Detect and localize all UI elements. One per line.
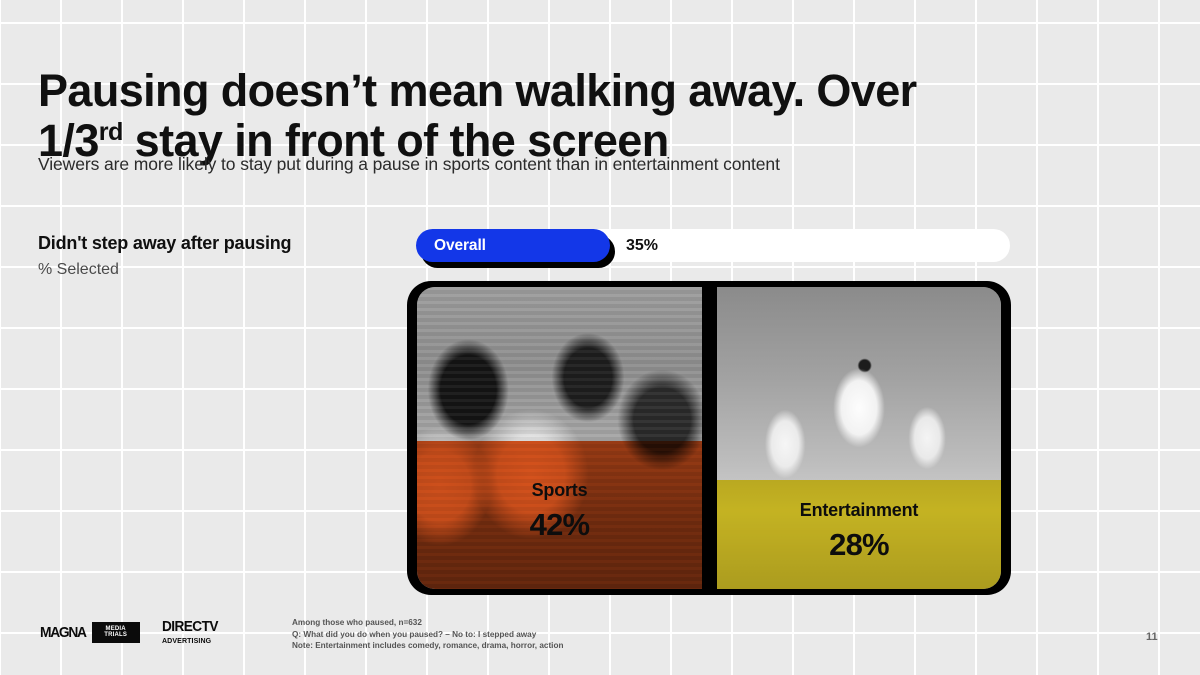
magna-wordmark: MAGNA (40, 624, 86, 641)
footnote-sample-size: Among those who paused, n=632 (292, 617, 563, 629)
metric-label: Didn't step away after pausing (38, 233, 291, 254)
footnote-note: Note: Entertainment includes comedy, rom… (292, 640, 563, 652)
entertainment-card-text: Entertainment 28% (717, 500, 1001, 563)
page-title-ordinal-suffix: rd (99, 118, 123, 146)
page-title: Pausing doesn’t mean walking away. Over … (38, 66, 988, 166)
directv-logo: DIRECTV ADVERTISING (162, 620, 221, 644)
sports-card-value: 42% (417, 507, 702, 543)
overall-bar: Overall 35% (416, 229, 1010, 262)
card-sports: Sports 42% (417, 287, 702, 589)
page-subtitle: Viewers are more likely to stay put duri… (38, 154, 780, 175)
directv-advertising-subtitle: ADVERTISING (162, 637, 218, 645)
logo-group: MAGNA MEDIA TRIALS DIRECTV ADVERTISING (38, 620, 221, 644)
entertainment-card-name: Entertainment (717, 500, 1001, 521)
slide-background: Pausing doesn’t mean walking away. Over … (0, 0, 1200, 675)
entertainment-card-value: 28% (717, 527, 1001, 563)
metric-sublabel: % Selected (38, 261, 119, 279)
sports-card-name: Sports (417, 480, 702, 501)
page-number: 11 (1146, 631, 1158, 643)
comparison-cards-container: Sports 42% Entertainment 28% (407, 281, 1011, 595)
sports-card-text: Sports 42% (417, 480, 702, 543)
directv-wordmark: DIRECTV (162, 620, 218, 635)
overall-bar-fill: Overall (416, 229, 610, 262)
card-entertainment: Entertainment 28% (717, 287, 1001, 589)
overall-bar-value: 35% (626, 229, 658, 262)
overall-bar-label: Overall (434, 237, 486, 255)
magna-media-trials-badge: MEDIA TRIALS (92, 622, 140, 643)
footnotes: Among those who paused, n=632 Q: What di… (292, 617, 563, 652)
magna-logo: MAGNA MEDIA TRIALS (38, 622, 140, 643)
footnote-question: Q: What did you do when you paused? – No… (292, 629, 563, 641)
